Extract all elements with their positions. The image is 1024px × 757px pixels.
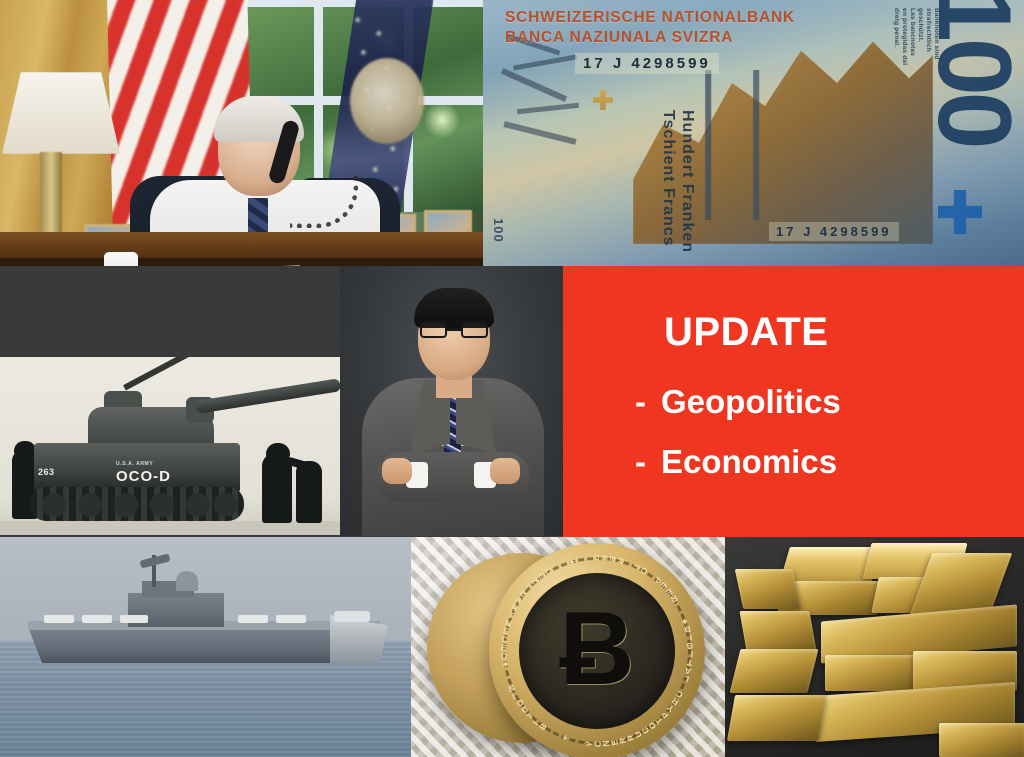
banknote-value-words: Hundert Franken Tschient Francs [659, 110, 697, 253]
coffee-cup [104, 252, 138, 266]
bullet-dash: - [635, 443, 661, 481]
swiss-cross-icon [938, 190, 982, 234]
bitcoin-coin-front: DECENTRALIZED ✦ PEER TO PEER ✦DIGITAL CR… [489, 543, 705, 757]
banknote-denomination: 100 [930, 0, 1018, 146]
value-words-german: Hundert Franken [678, 110, 697, 253]
slide-canvas: SCHWEIZERISCHE NATIONALBANK BANCA NAZIUN… [0, 0, 1024, 757]
list-item: -Economics [635, 443, 1024, 481]
banknote-serial-bottom: 17 J 4298599 [769, 222, 899, 241]
page-title: UPDATE [664, 310, 1024, 355]
banknote-denomination-small: 100 [491, 218, 506, 243]
photo-swiss-banknote: SCHWEIZERISCHE NATIONALBANK BANCA NAZIUN… [483, 0, 1024, 266]
bullet-label: Economics [661, 443, 837, 480]
photo-tank-and-soldiers: U.S.A. ARMY OCO-D 263 [0, 357, 340, 535]
banknote-legal-microtext: Banknoten sind strafrechtlich geschützt.… [892, 8, 940, 65]
tank-gun-barrel [195, 378, 340, 414]
soldier-silhouette [296, 461, 322, 523]
photo-naval-ship [0, 537, 411, 757]
banknote-issuer-names: SCHWEIZERISCHE NATIONALBANK BANCA NAZIUN… [505, 8, 795, 48]
gold-bar [727, 695, 827, 741]
ship-aircraft [334, 611, 370, 622]
gold-bar [939, 723, 1024, 757]
gold-bar [825, 655, 917, 691]
soldier-helmet [266, 443, 290, 458]
ship-hull [28, 627, 380, 663]
gold-bar [739, 611, 816, 651]
tank-unit-marking: U.S.A. ARMY OCO-D [116, 461, 171, 485]
tank-ground [0, 521, 340, 535]
desk-lamp-base [40, 152, 62, 234]
photo-bitcoin-coins: DECENTRALIZED ✦ PEER TO PEER ✦DIGITAL CR… [411, 537, 725, 757]
bullet-dash: - [635, 383, 661, 421]
hand [382, 458, 412, 484]
soldier-helmet [14, 441, 36, 455]
list-item: -Geopolitics [635, 383, 1024, 421]
gold-bar [730, 649, 819, 693]
banknote-serial-top: 17 J 4298599 [575, 53, 719, 74]
tank-army-label: U.S.A. ARMY [116, 461, 171, 467]
hand [490, 458, 520, 484]
ship-radar-dome [176, 571, 198, 591]
desk-lamp-shade [2, 72, 120, 154]
gold-bar [735, 569, 802, 609]
update-bullet-list: -Geopolitics -Economics [563, 383, 1024, 481]
eyeglasses-icon [420, 322, 488, 338]
banknote-pylon-motif [683, 70, 803, 220]
photo-gold-bars [725, 537, 1024, 757]
tank-hull-number: 263 [38, 467, 55, 477]
issuer-name-german: SCHWEIZERISCHE NATIONALBANK [505, 8, 795, 28]
photo-analyst-portrait [340, 266, 563, 536]
presidential-seal-emblem [350, 58, 424, 144]
tank-marking-code: OCO-D [116, 468, 171, 485]
photo-oval-office-phone-call [0, 0, 483, 266]
anti-aircraft-gun [123, 357, 193, 390]
issuer-name-romansh: BANCA NAZIUNALA SVIZRA [505, 28, 795, 48]
bitcoin-symbol-icon: Ƀ [559, 597, 634, 701]
bullet-label: Geopolitics [661, 383, 841, 420]
update-text-panel: UPDATE -Geopolitics -Economics [563, 266, 1024, 538]
value-words-romansh: Tschient Francs [659, 110, 678, 253]
